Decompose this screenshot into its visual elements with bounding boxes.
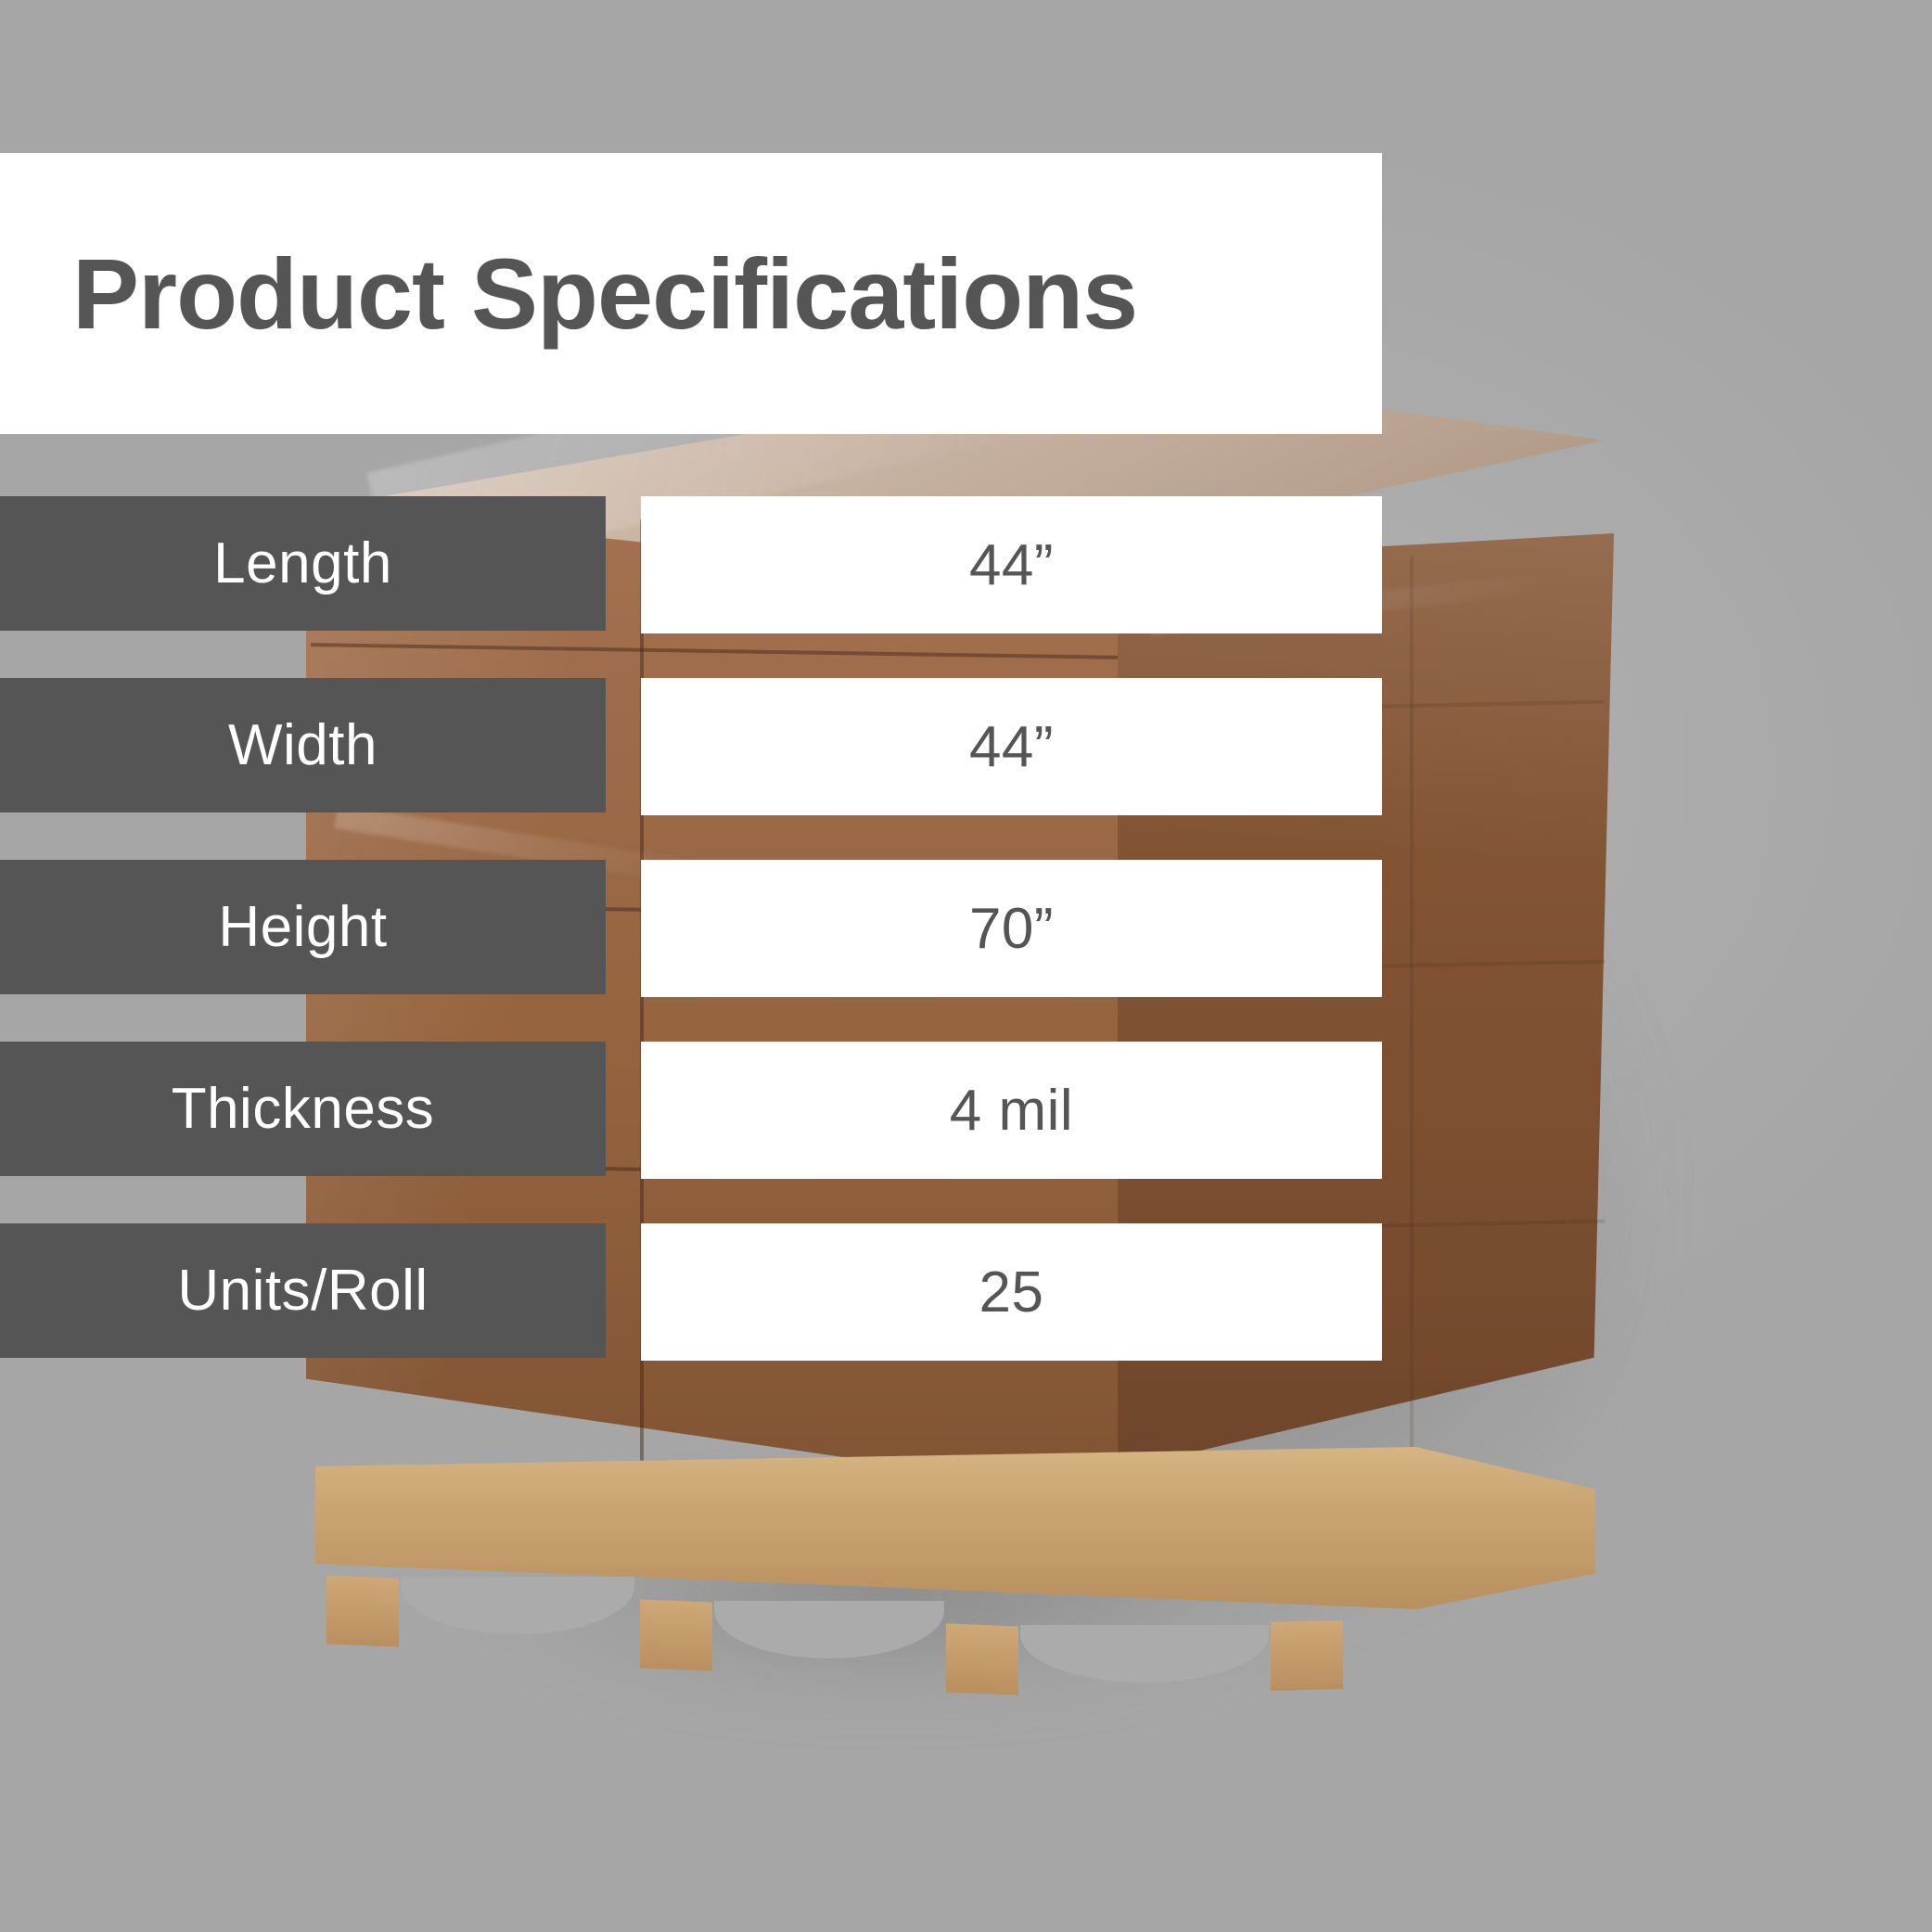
spec-label-text: Units/Roll xyxy=(177,1258,428,1324)
pallet-block xyxy=(1271,1620,1343,1691)
spec-label-units-per-roll: Units/Roll xyxy=(0,1223,606,1358)
pallet-block xyxy=(640,1599,712,1670)
spec-row: Thickness 4 mil xyxy=(0,1042,1382,1176)
spec-value-text: 70” xyxy=(969,896,1054,962)
spec-value-units-per-roll: 25 xyxy=(641,1223,1382,1361)
pallet-block xyxy=(326,1575,399,1646)
spec-label-thickness: Thickness xyxy=(0,1042,606,1176)
spec-label-length: Length xyxy=(0,496,606,631)
spec-label-text: Width xyxy=(228,712,377,778)
spec-row: Width 44” xyxy=(0,678,1382,812)
spec-label-height: Height xyxy=(0,860,606,994)
spec-row: Height 70” xyxy=(0,860,1382,994)
spec-label-text: Thickness xyxy=(172,1076,435,1142)
spec-value-height: 70” xyxy=(641,860,1382,997)
title-banner: Product Specifications xyxy=(0,153,1382,434)
carton-seam xyxy=(1410,557,1414,1465)
spec-row: Length 44” xyxy=(0,496,1382,631)
spec-value-width: 44” xyxy=(641,678,1382,815)
spec-value-thickness: 4 mil xyxy=(641,1042,1382,1179)
spec-label-text: Height xyxy=(218,894,387,960)
spec-label-text: Length xyxy=(213,531,392,596)
spec-value-text: 25 xyxy=(979,1260,1044,1325)
spec-value-text: 4 mil xyxy=(950,1078,1073,1144)
spec-row: Units/Roll 25 xyxy=(0,1223,1382,1358)
spec-value-text: 44” xyxy=(969,714,1054,780)
spec-value-length: 44” xyxy=(641,496,1382,633)
spec-label-width: Width xyxy=(0,678,606,812)
pallet-block xyxy=(946,1623,1018,1695)
page-title: Product Specifications xyxy=(72,244,1137,344)
spec-value-text: 44” xyxy=(969,532,1054,598)
